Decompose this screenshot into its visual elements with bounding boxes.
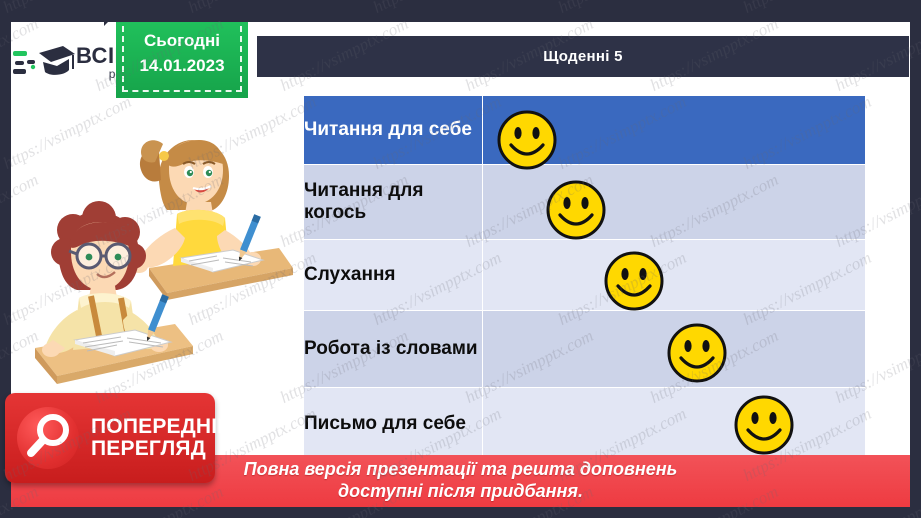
preview-badge: ПОПЕРЕДНІЙ ПЕРЕГЛЯД xyxy=(5,393,215,483)
presentation-slide: ВСІМ pptx Сьогодні 14.01.2023 Щоденні 5 xyxy=(0,0,921,518)
row-label: Слухання xyxy=(304,240,483,311)
preview-badge-line-2: ПЕРЕГЛЯД xyxy=(91,438,233,460)
table-row[interactable]: Читання для себе xyxy=(304,96,866,165)
row-label: Робота із словами xyxy=(304,311,483,388)
slide-header-bar: Щоденні 5 xyxy=(257,36,909,77)
smiley-face-icon[interactable] xyxy=(545,179,607,246)
watermark-text: https://vsimpptx.com xyxy=(555,0,690,18)
watermark-text: https://vsimpptx.com xyxy=(740,0,875,18)
page-title: Щоденні 5 xyxy=(543,48,623,65)
vsimpptx-logo: ВСІМ pptx xyxy=(13,36,133,88)
watermark-text: https://vsimpptx.com xyxy=(185,0,320,18)
magnifier-icon xyxy=(17,407,79,469)
row-mark-cell[interactable] xyxy=(483,240,866,311)
preview-badge-line-1: ПОПЕРЕДНІЙ xyxy=(91,416,233,438)
watermark-text: https://vsimpptx.com xyxy=(370,0,505,18)
smiley-face-icon[interactable] xyxy=(496,109,558,176)
row-mark-cell[interactable] xyxy=(483,388,866,461)
date-badge-date: 14.01.2023 xyxy=(139,54,224,79)
row-label: Читання для себе xyxy=(304,96,483,165)
smiley-face-icon[interactable] xyxy=(733,394,795,461)
today-date-badge: Сьогодні 14.01.2023 xyxy=(116,22,248,98)
banner-line-1: Повна версія презентації та решта доповн… xyxy=(244,459,678,481)
banner-line-2: доступні після придбання. xyxy=(338,481,583,503)
date-badge-label: Сьогодні xyxy=(144,29,220,54)
row-label: Письмо для себе xyxy=(304,388,483,461)
table-row[interactable]: Робота із словами xyxy=(304,311,866,388)
watermark-text: https://vsimpptx.com xyxy=(0,0,135,18)
table-row[interactable]: Слухання xyxy=(304,240,866,311)
two-children-writing-illustration xyxy=(17,118,297,408)
graduation-cap-icon xyxy=(13,39,75,85)
row-label: Читання для когось xyxy=(304,165,483,240)
smiley-face-icon[interactable] xyxy=(603,250,665,317)
smiley-face-icon[interactable] xyxy=(666,322,728,389)
